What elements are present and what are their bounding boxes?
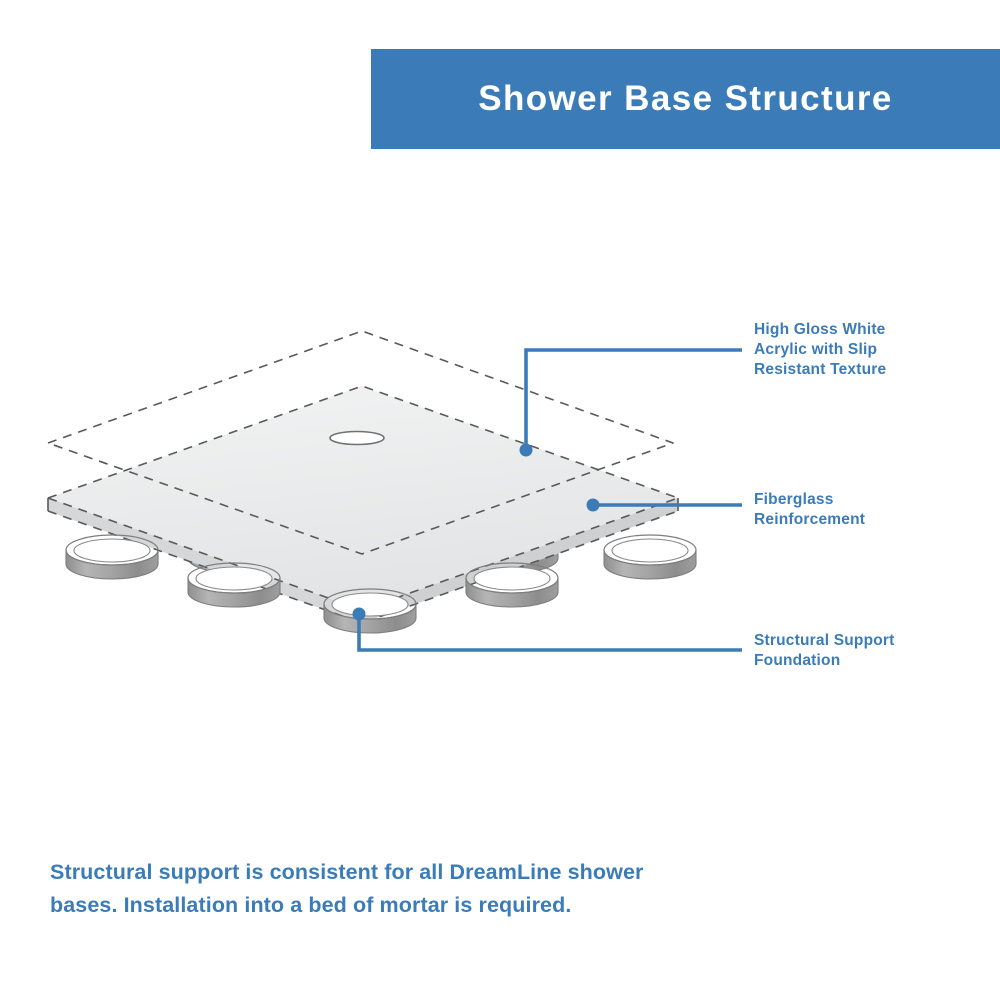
callout-dot [587,499,600,512]
callout-label-support: Structural Support Foundation [754,631,984,671]
callout-label-acrylic: High Gloss White Acrylic with Slip Resis… [754,320,984,380]
fiberglass-slab [48,386,678,623]
drain-opening-icon [330,432,384,445]
callout-dot [520,444,533,457]
callout-label-fiberglass: Fiberglass Reinforcement [754,490,984,530]
page-root: Shower Base Structure [0,0,1000,1000]
callout-leader-acrylic [520,350,743,457]
support-ring [604,535,696,579]
footer-caption: Structural support is consistent for all… [50,856,670,922]
callout-dot [353,608,366,621]
